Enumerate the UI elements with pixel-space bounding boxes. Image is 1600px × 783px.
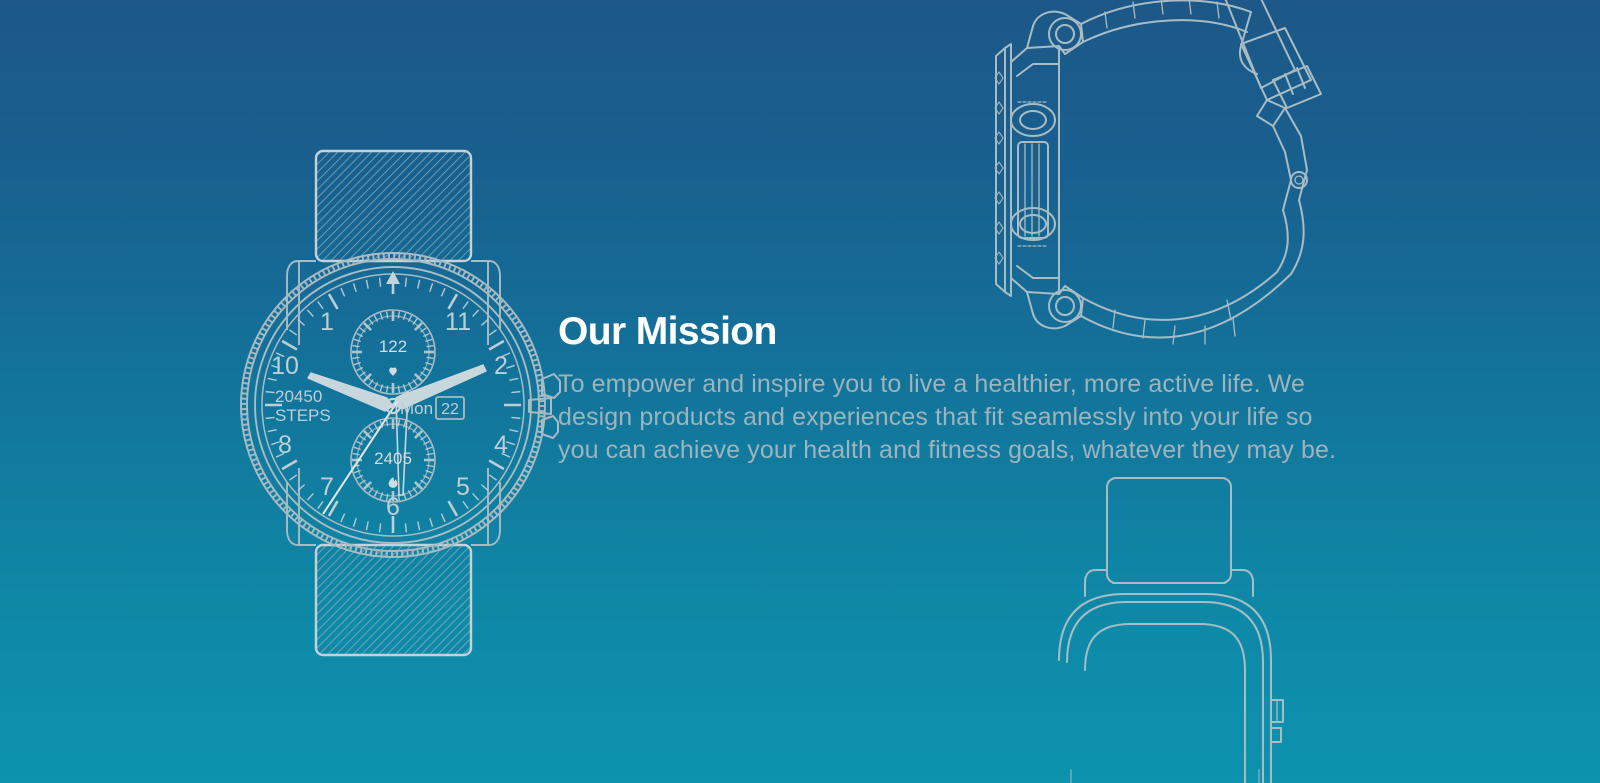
round-chronograph-watch-illustration: 11 1 10 2 8 4 7 5 6 122 2405 20450 STEPS… (215, 130, 585, 675)
date-weekday: Mon (400, 399, 433, 418)
numeral-7: 7 (320, 473, 334, 501)
watch-hour-numerals: 11 1 10 2 8 4 7 5 6 (271, 308, 508, 521)
page-title: Our Mission (558, 308, 1348, 356)
numeral-1: 1 (320, 308, 334, 336)
numeral-2: 2 (494, 352, 508, 380)
rugged-smartwatch-side-illustration (955, 0, 1355, 354)
heart-rate-value: 122 (379, 337, 407, 356)
square-smartwatch-illustration (1015, 470, 1315, 783)
date-day: 22 (441, 401, 459, 418)
numeral-6: 6 (386, 493, 400, 521)
steps-label: STEPS (275, 406, 331, 425)
mission-text-block: Our Mission To empower and inspire you t… (558, 308, 1348, 467)
numeral-4: 4 (494, 431, 508, 459)
numeral-10: 10 (271, 352, 299, 380)
flame-icon (389, 477, 398, 488)
heart-icon (389, 367, 397, 375)
calories-value: 2405 (374, 449, 412, 468)
numeral-5: 5 (456, 473, 470, 501)
mission-hero-section: 11 1 10 2 8 4 7 5 6 122 2405 20450 STEPS… (0, 0, 1600, 783)
numeral-11: 11 (445, 308, 471, 336)
mission-description: To empower and inspire you to live a hea… (558, 368, 1348, 467)
steps-value: 20450 (275, 387, 322, 406)
numeral-8: 8 (278, 431, 292, 459)
